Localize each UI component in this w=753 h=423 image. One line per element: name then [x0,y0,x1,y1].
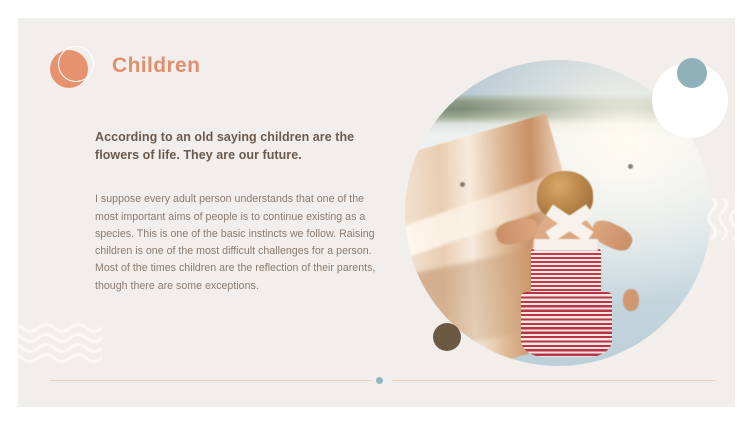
slide-header: Children [38,40,438,96]
footer-rule-left [50,380,372,381]
text-column: According to an old saying children are … [95,128,380,295]
slide-progress-dot[interactable] [376,377,383,384]
wave-lines-decoration-left [18,322,102,366]
child-swimsuit-band [534,239,599,250]
blue-dot-decoration [677,58,707,88]
wave-lines-decoration-right [703,199,735,243]
olive-dot-decoration [433,323,461,351]
logo-mark [50,46,96,92]
water-buoy [628,164,633,169]
slide-card: Children According to an old saying chil… [18,18,735,407]
child-hand [623,289,639,312]
child-swimsuit-skirt [521,292,612,357]
child-figure [515,182,637,366]
body-paragraph: I suppose every adult person understands… [95,191,380,295]
outline-circle-icon [58,46,94,82]
footer-rule-right [392,380,716,381]
lead-paragraph: According to an old saying children are … [95,128,380,164]
page-title: Children [112,54,200,78]
